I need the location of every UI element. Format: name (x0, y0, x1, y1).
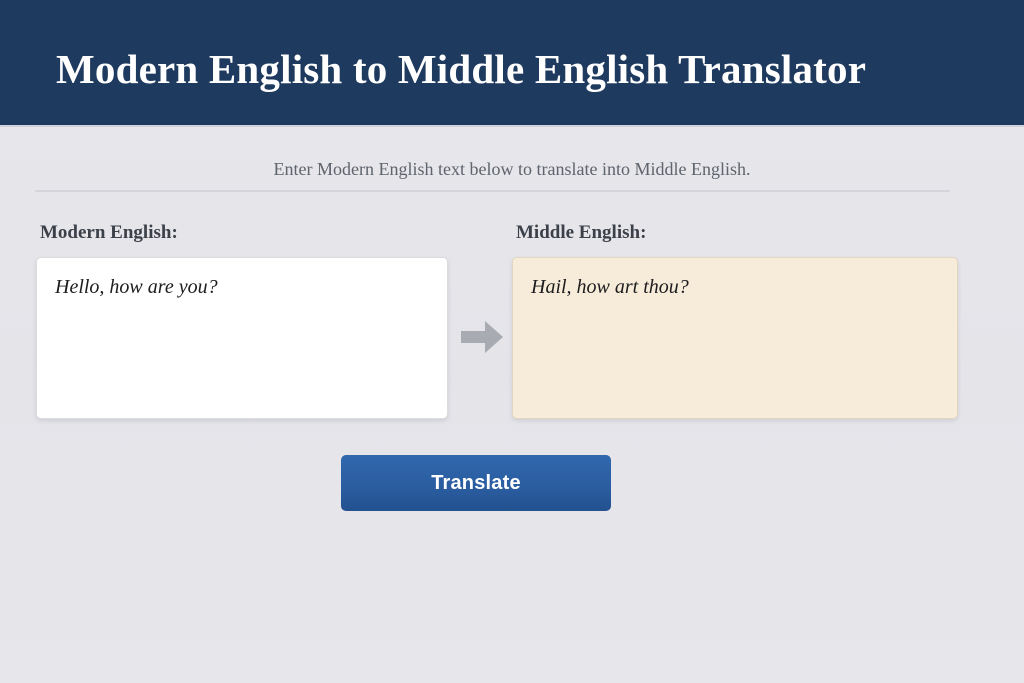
source-pane: Modern English: Hello, how are you? (36, 222, 448, 419)
target-pane: Middle English: Hail, how art thou? (512, 222, 958, 419)
translate-button[interactable]: Translate (341, 455, 611, 511)
page-title: Modern English to Middle English Transla… (56, 46, 866, 92)
source-text-input[interactable]: Hello, how are you? (36, 257, 448, 419)
header-divider (35, 190, 950, 192)
app-header: Modern English to Middle English Transla… (0, 0, 1024, 127)
target-text-output: Hail, how art thou? (512, 257, 958, 419)
translator-app: Modern English to Middle English Transla… (0, 0, 1024, 683)
translation-area: Modern English: Hello, how are you? Midd… (0, 222, 1024, 422)
source-label: Modern English: (40, 222, 448, 244)
page-subtitle: Enter Modern English text below to trans… (0, 158, 1024, 180)
arrow-right-icon (455, 310, 509, 364)
target-label: Middle English: (516, 222, 958, 244)
